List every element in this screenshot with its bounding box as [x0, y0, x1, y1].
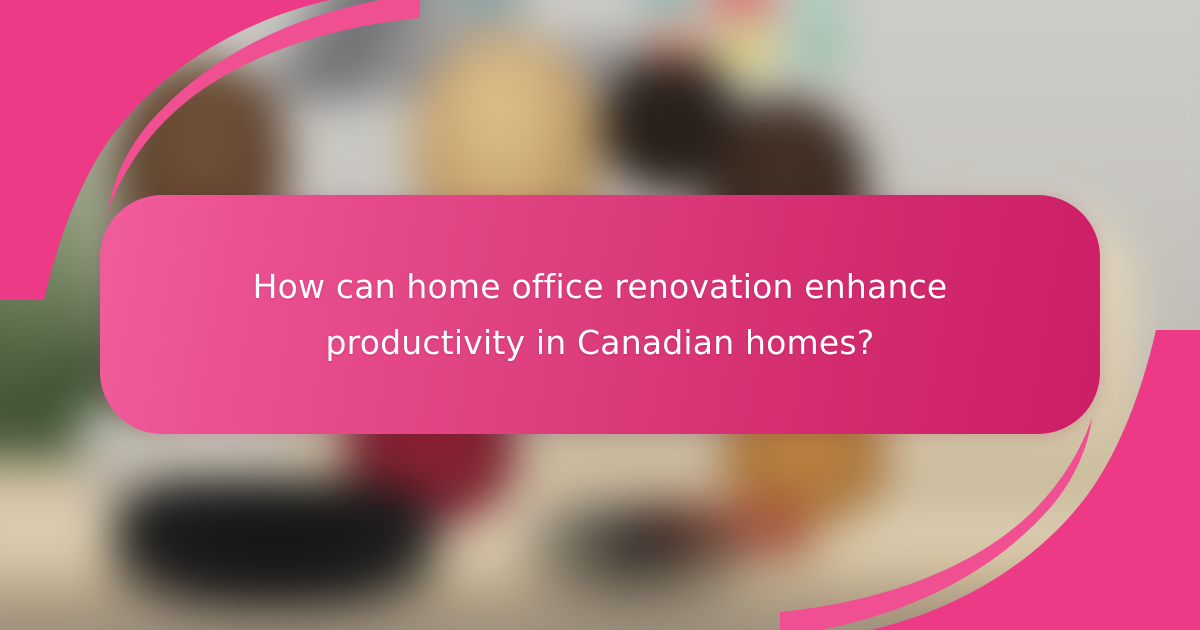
sticky-note-red: [710, 0, 772, 16]
question-card: How can home office renovation enhance p…: [100, 195, 1100, 434]
sticky-note-teal: [640, 0, 694, 10]
sticky-note-mint: [790, 0, 844, 12]
dark-chair: [110, 480, 440, 610]
dark-chair-second: [520, 500, 750, 610]
teal-object: [430, 0, 540, 12]
share-card-canvas: How can home office renovation enhance p…: [0, 0, 1200, 630]
question-text: How can home office renovation enhance p…: [170, 259, 1030, 370]
sticky-note-green: [792, 28, 846, 68]
sticky-note-yellow: [718, 30, 772, 70]
